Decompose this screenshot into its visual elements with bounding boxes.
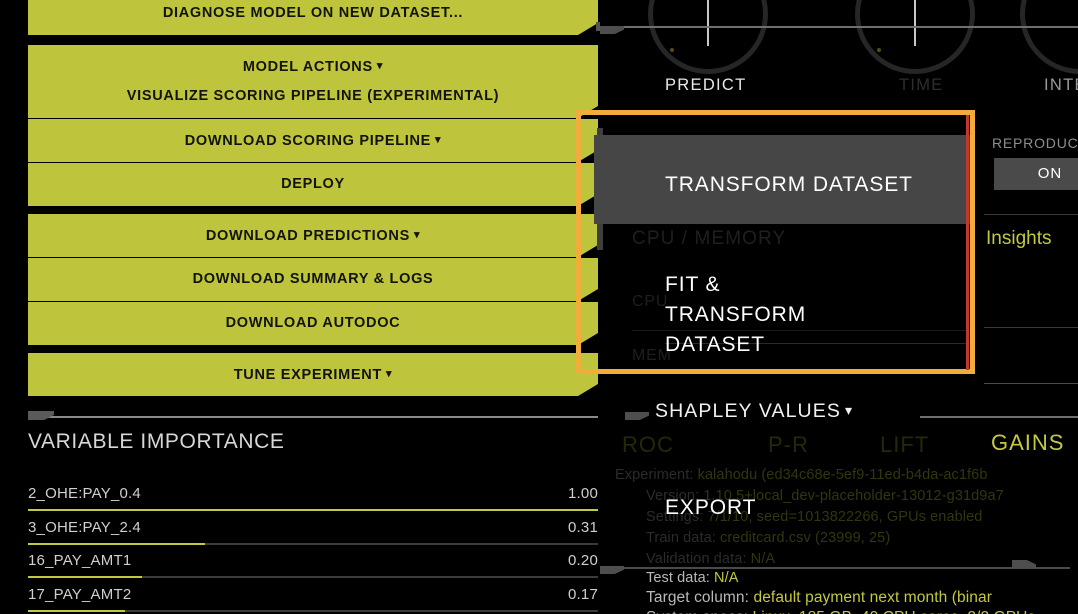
tab-insights[interactable]: Insights bbox=[986, 228, 1051, 250]
group-gap bbox=[28, 35, 598, 45]
variable-name: 3_OHE:PAY_2.4 bbox=[28, 519, 141, 536]
variable-importance-row: 16_PAY_AMT1 0.20 bbox=[28, 552, 598, 586]
panel-corner-tab bbox=[600, 26, 624, 34]
experiment-info-key: Train data: bbox=[646, 530, 720, 546]
download-summary-logs-label: DOWNLOAD SUMMARY & LOGS bbox=[193, 271, 434, 287]
variable-name: 2_OHE:PAY_0.4 bbox=[28, 485, 141, 502]
experiment-info-line: Train data: creditcard.csv (23999, 25) bbox=[646, 530, 890, 546]
time-gauge-needle bbox=[914, 0, 916, 46]
lower-panel-rule bbox=[600, 567, 1070, 569]
deploy-label: DEPLOY bbox=[281, 176, 345, 192]
shapley-values-text: SHAPLEY VALUES bbox=[655, 400, 841, 422]
experiment-info-line: Target column: default payment next mont… bbox=[646, 589, 992, 607]
panel-corner-tab bbox=[1012, 560, 1036, 568]
variable-value: 0.17 bbox=[568, 586, 598, 603]
variable-bar-fill bbox=[28, 610, 125, 612]
variable-importance-row: 17_PAY_AMT2 0.17 bbox=[28, 586, 598, 614]
experiment-info-key: Target column: bbox=[646, 589, 753, 606]
diagnose-model-button[interactable]: DIAGNOSE MODEL ON NEW DATASET... bbox=[28, 0, 598, 35]
insights-divider-bottom bbox=[984, 327, 1078, 328]
visualize-scoring-pipeline-button[interactable]: VISUALIZE SCORING PIPELINE (EXPERIMENTAL… bbox=[28, 75, 598, 118]
menu-item-export-label: EXPORT bbox=[665, 496, 756, 519]
time-gauge-label: TIME bbox=[899, 76, 944, 95]
action-button-group-2: VISUALIZE SCORING PIPELINE (EXPERIMENTAL… bbox=[28, 75, 598, 206]
tab-roc[interactable]: ROC bbox=[622, 432, 674, 458]
tune-experiment-label: TUNE EXPERIMENT bbox=[234, 367, 382, 383]
experiment-info-value: creditcard.csv (23999, 25) bbox=[720, 530, 890, 546]
experiment-info-key: Experiment: bbox=[615, 467, 698, 483]
predict-gauge-dot bbox=[670, 48, 674, 52]
tab-pr[interactable]: P-R bbox=[768, 432, 809, 458]
tune-experiment-button[interactable]: TUNE EXPERIMENT▾ bbox=[28, 353, 598, 396]
variable-importance-row: 2_OHE:PAY_0.4 1.00 bbox=[28, 485, 598, 519]
insights-divider-top bbox=[984, 214, 1078, 215]
panel-corner-tab bbox=[600, 566, 624, 574]
shapley-rule bbox=[920, 416, 1078, 418]
experiment-info-line: Test data: N/A bbox=[646, 570, 738, 586]
experiment-info-value: N/A bbox=[714, 570, 738, 586]
experiment-info-key: Test data: bbox=[646, 570, 714, 586]
download-autodoc-button[interactable]: DOWNLOAD AUTODOC bbox=[28, 302, 598, 345]
left-actions-panel: DIAGNOSE MODEL ON NEW DATASET... MODEL A… bbox=[0, 0, 600, 614]
gauge-baseline-rule bbox=[600, 26, 1078, 28]
app-screen: DIAGNOSE MODEL ON NEW DATASET... MODEL A… bbox=[0, 0, 1078, 614]
interpretability-gauge-label: INTE bbox=[1044, 76, 1078, 95]
variable-name: 17_PAY_AMT2 bbox=[28, 586, 131, 603]
insights-divider-lower bbox=[984, 383, 1078, 384]
menu-item-export[interactable]: EXPORT bbox=[665, 496, 756, 520]
variable-bar-fill bbox=[28, 543, 205, 545]
experiment-info-line: Validation data: N/A bbox=[646, 551, 775, 567]
menu-item-transform-dataset[interactable]: TRANSFORM DATASET bbox=[583, 173, 970, 197]
download-predictions-button[interactable]: DOWNLOAD PREDICTIONS▾ bbox=[28, 214, 598, 257]
variable-bar-fill bbox=[28, 509, 598, 511]
visualize-scoring-pipeline-label: VISUALIZE SCORING PIPELINE (EXPERIMENTAL… bbox=[127, 88, 499, 104]
menu-item-fit-and-transform-dataset[interactable]: FIT & TRANSFORM DATASET bbox=[583, 270, 843, 360]
download-autodoc-label: DOWNLOAD AUTODOC bbox=[226, 315, 401, 331]
download-scoring-pipeline-label: DOWNLOAD SCORING PIPELINE bbox=[185, 133, 431, 149]
variable-bar-fill bbox=[28, 576, 142, 578]
menu-item-fit-and-transform-dataset-label: FIT & TRANSFORM DATASET bbox=[665, 273, 806, 356]
predict-gauge-needle bbox=[707, 0, 709, 46]
variable-value: 0.20 bbox=[568, 552, 598, 569]
experiment-info-line: Experiment: kalahodu (ed34c68e-5ef9-11ed… bbox=[615, 467, 988, 483]
reproducible-label: REPRODUCIBLE bbox=[992, 135, 1078, 151]
variable-value: 0.31 bbox=[568, 519, 598, 536]
variable-importance-row: 3_OHE:PAY_2.4 0.31 bbox=[28, 519, 598, 553]
variable-importance-divider bbox=[28, 416, 598, 418]
time-gauge-dot bbox=[877, 48, 881, 52]
experiment-info-value: N/A bbox=[751, 551, 775, 567]
deploy-button[interactable]: DEPLOY bbox=[28, 163, 598, 206]
experiment-info-key: Validation data: bbox=[646, 551, 751, 567]
action-button-group-3: DOWNLOAD PREDICTIONS▾ DOWNLOAD SUMMARY &… bbox=[28, 214, 598, 345]
chevron-down-icon: ▾ bbox=[386, 353, 392, 396]
model-actions-label: MODEL ACTIONS bbox=[243, 59, 373, 75]
experiment-info-value: kalahodu (ed34c68e-5ef9-11ed-b4da-ac1f6b bbox=[698, 467, 988, 483]
experiment-info-key: System specs: bbox=[646, 609, 753, 614]
chevron-down-icon: ▾ bbox=[414, 214, 420, 257]
tab-lift[interactable]: LIFT bbox=[880, 432, 929, 458]
chevron-down-icon: ▾ bbox=[845, 402, 853, 419]
panel-corner-tab bbox=[625, 412, 649, 420]
shapley-values-label[interactable]: SHAPLEY VALUES▾ bbox=[655, 400, 853, 423]
variable-importance-title: VARIABLE IMPORTANCE bbox=[28, 430, 284, 454]
download-predictions-label: DOWNLOAD PREDICTIONS bbox=[206, 228, 410, 244]
download-summary-logs-button[interactable]: DOWNLOAD SUMMARY & LOGS bbox=[28, 258, 598, 301]
predict-gauge-label: PREDICT bbox=[665, 76, 747, 95]
variable-name: 16_PAY_AMT1 bbox=[28, 552, 131, 569]
reproducible-toggle[interactable]: ON bbox=[994, 158, 1078, 190]
experiment-info-line: System specs: Linux, 185 GB, 40 CPU core… bbox=[646, 609, 1035, 614]
download-scoring-pipeline-button[interactable]: DOWNLOAD SCORING PIPELINE▾ bbox=[28, 119, 598, 162]
menu-item-transform-dataset-label: TRANSFORM DATASET bbox=[665, 173, 913, 196]
experiment-info-value: default payment next month (binar bbox=[753, 589, 992, 606]
panel-corner-tab bbox=[28, 411, 54, 420]
transform-dataset-dropdown-menu: TRANSFORM DATASET FIT & TRANSFORM DATASE… bbox=[583, 118, 970, 376]
action-button-group-4: TUNE EXPERIMENT▾ bbox=[28, 353, 598, 396]
variable-value: 1.00 bbox=[568, 485, 598, 502]
experiment-info-value: Linux, 185 GB, 40 CPU cores, 2/2 GPUs bbox=[753, 609, 1036, 614]
diagnose-model-label: DIAGNOSE MODEL ON NEW DATASET... bbox=[163, 5, 463, 21]
chevron-down-icon: ▾ bbox=[435, 119, 441, 162]
tab-gains[interactable]: GAINS bbox=[991, 430, 1064, 456]
highlight-annotation-inner-line bbox=[966, 115, 969, 370]
